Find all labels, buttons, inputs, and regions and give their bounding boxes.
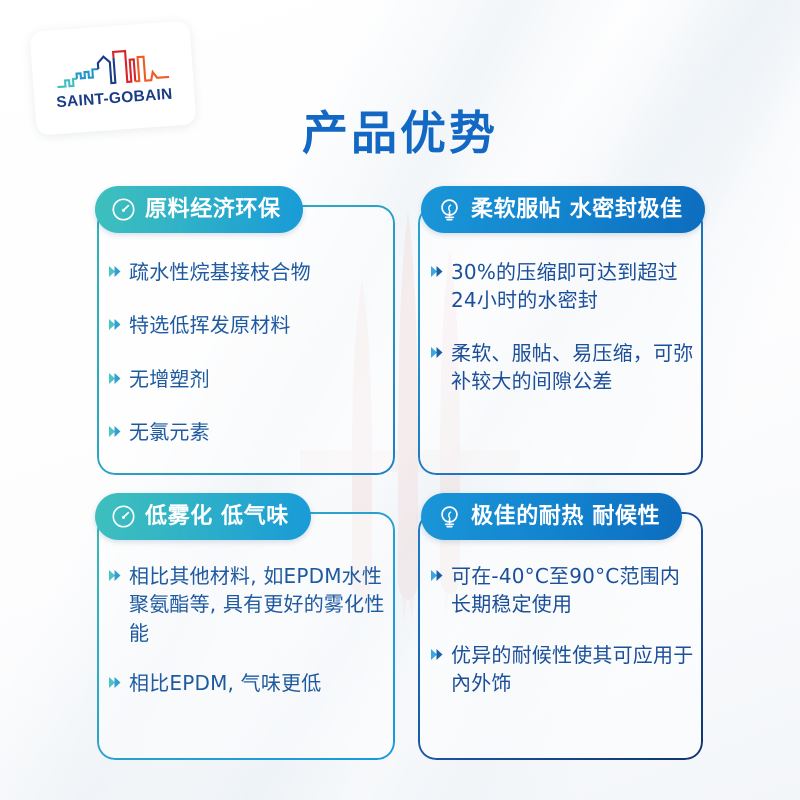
card-heat-weather-header: 极佳的耐热 耐候性: [421, 493, 682, 540]
list-item-text: 特选低挥发原材料: [129, 311, 291, 339]
list-item-text: 相比其他材料, 如EPDM水性聚氨酯等, 具有更好的雾化性能: [129, 562, 390, 647]
double-chevron-icon: [108, 265, 122, 278]
list-item: 相比EPDM, 气味更低: [108, 669, 390, 697]
list-item: 疏水性烷基接枝合物: [108, 258, 386, 286]
double-chevron-icon: [108, 676, 122, 689]
list-item: 可在-40°C至90°C范围内长期稳定使用: [430, 562, 698, 619]
product-advantages-poster: SAINT-GOBAIN 产品优势 原料经济环保 疏水性烷基接枝合物 特选低挥发…: [0, 0, 800, 800]
card-low-fogging-bullets: 相比其他材料, 如EPDM水性聚氨酯等, 具有更好的雾化性能 相比EPDM, 气…: [108, 562, 390, 720]
list-item-text: 可在-40°C至90°C范围内长期稳定使用: [451, 562, 698, 619]
double-chevron-icon: [430, 346, 444, 359]
list-item-text: 无增塑剂: [129, 365, 210, 393]
card-heat-weather-bullets: 可在-40°C至90°C范围内长期稳定使用 优异的耐候性使其可应用于內外饰: [430, 562, 698, 720]
card-header-label: 原料经济环保: [145, 199, 281, 221]
list-item: 优异的耐候性使其可应用于內外饰: [430, 641, 698, 698]
list-item: 相比其他材料, 如EPDM水性聚氨酯等, 具有更好的雾化性能: [108, 562, 390, 647]
card-raw-material-header: 原料经济环保: [95, 186, 303, 233]
list-item-text: 优异的耐候性使其可应用于內外饰: [451, 641, 698, 698]
list-item-text: 柔软、服帖、易压缩，可弥补较大的间隙公差: [451, 339, 696, 396]
lightbulb-icon: [437, 197, 462, 222]
gauge-icon: [111, 197, 136, 222]
double-chevron-icon: [430, 569, 444, 582]
double-chevron-icon: [108, 318, 122, 331]
list-item-text: 无氯元素: [129, 418, 210, 446]
lightbulb-icon: [437, 504, 462, 529]
page-title: 产品优势: [0, 97, 800, 163]
double-chevron-icon: [108, 569, 122, 582]
list-item: 无氯元素: [108, 418, 386, 446]
card-water-seal-bullets: 30%的压缩即可达到超过24小时的水密封 柔软、服帖、易压缩，可弥补较大的间隙公…: [430, 258, 696, 420]
list-item-text: 相比EPDM, 气味更低: [129, 669, 321, 697]
list-item-text: 疏水性烷基接枝合物: [129, 258, 311, 286]
list-item: 无增塑剂: [108, 365, 386, 393]
card-low-fogging-header: 低雾化 低气味: [95, 493, 311, 540]
list-item: 30%的压缩即可达到超过24小时的水密封: [430, 258, 696, 315]
list-item: 柔软、服帖、易压缩，可弥补较大的间隙公差: [430, 339, 696, 396]
gauge-icon: [111, 504, 136, 529]
card-header-label: 低雾化 低气味: [145, 506, 289, 528]
card-header-label: 极佳的耐热 耐候性: [471, 506, 660, 528]
card-raw-material-bullets: 疏水性烷基接枝合物 特选低挥发原材料 无增塑剂 无氯元素: [108, 258, 386, 472]
double-chevron-icon: [430, 648, 444, 661]
double-chevron-icon: [108, 372, 122, 385]
double-chevron-icon: [430, 265, 444, 278]
card-water-seal-header: 柔软服帖 水密封极佳: [421, 186, 705, 233]
card-header-label: 柔软服帖 水密封极佳: [471, 199, 683, 221]
list-item-text: 30%的压缩即可达到超过24小时的水密封: [451, 258, 696, 315]
list-item: 特选低挥发原材料: [108, 311, 386, 339]
double-chevron-icon: [108, 425, 122, 438]
